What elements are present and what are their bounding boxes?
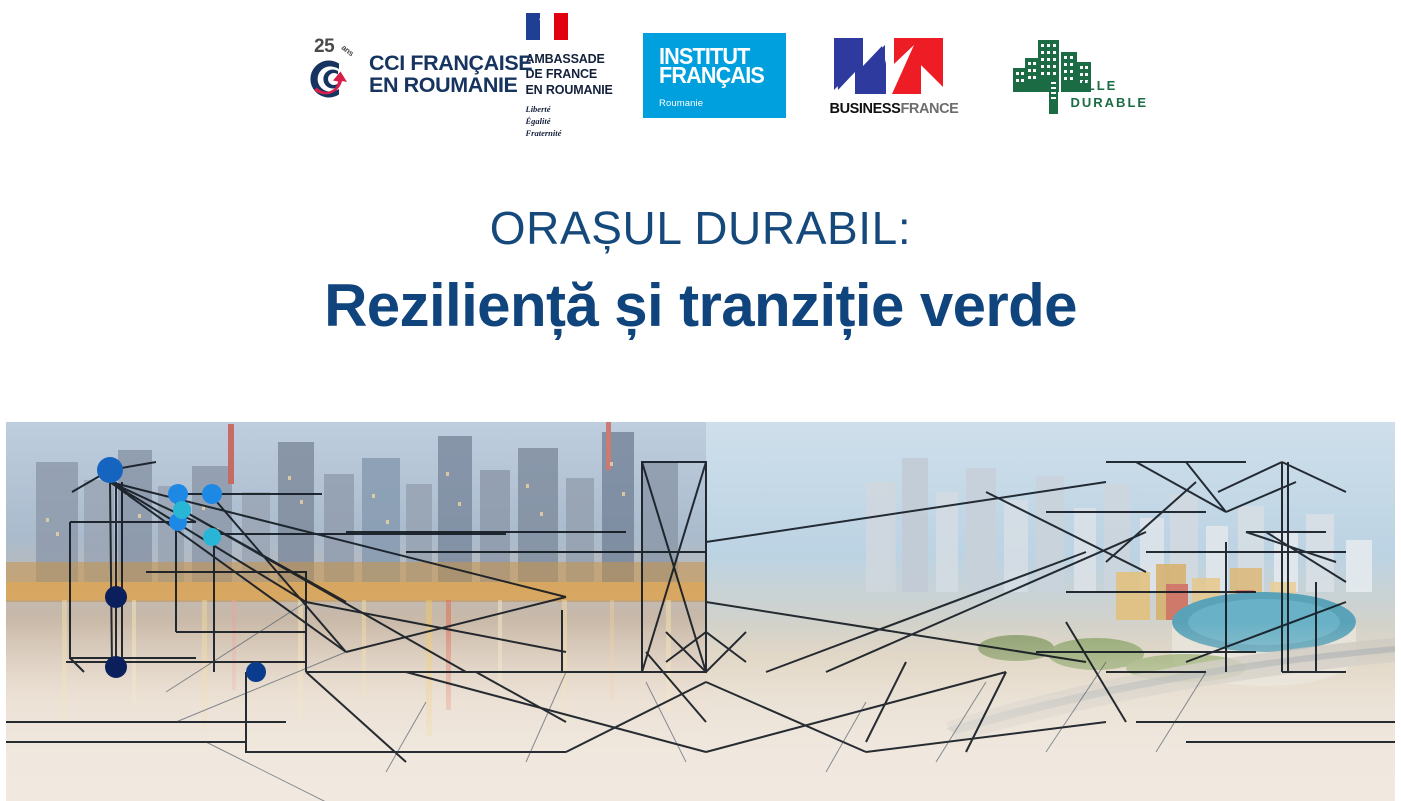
vd-line2: DURABLE bbox=[1071, 95, 1149, 112]
cci-wordmark: CCI FRANÇAISE EN ROUMANIE bbox=[369, 53, 532, 97]
logo-cci-francaise-en-roumanie: 25 ans CCI FRANÇAISE EN ROUMANIE bbox=[261, 20, 521, 130]
logo-business-france: BUSINESSFRANCE bbox=[791, 20, 991, 130]
cci-anniversary-number: 25 bbox=[314, 36, 334, 58]
title-block: ORAȘUL DURABIL: Reziliență și tranziție … bbox=[0, 205, 1401, 336]
page-kicker: ORAȘUL DURABIL: bbox=[0, 205, 1401, 251]
motto-fraternite: Fraternité bbox=[526, 128, 634, 140]
cci-emblem: 25 ans bbox=[303, 36, 367, 114]
business-france-arrows-icon bbox=[830, 34, 948, 98]
cci-c-ring-icon bbox=[306, 56, 352, 102]
cci-line2: EN ROUMANIE bbox=[369, 75, 532, 97]
logo-ambassade-de-france: AMBASSADE DE FRANCE EN ROUMANIE Liberté … bbox=[521, 20, 639, 130]
bf-word-business: BUSINESS bbox=[830, 101, 901, 117]
page-title: Reziliență și tranziție verde bbox=[0, 276, 1401, 336]
hero-illustration bbox=[6, 422, 1395, 801]
republic-motto: Liberté Égalité Fraternité bbox=[526, 104, 634, 139]
logo-ville-durable: VILLE DURABLE bbox=[991, 20, 1141, 130]
ambassade-line2: DE FRANCE bbox=[526, 67, 634, 83]
institut-subtitle: Roumanie bbox=[659, 98, 771, 109]
business-france-wordmark: BUSINESSFRANCE bbox=[830, 101, 952, 117]
vd-line1: VILLE bbox=[1071, 78, 1149, 95]
ambassade-line3: EN ROUMANIE bbox=[526, 83, 634, 99]
institut-line2: FRANÇAIS bbox=[659, 66, 764, 86]
bf-word-france: FRANCE bbox=[900, 101, 958, 117]
ambassade-wordmark: AMBASSADE DE FRANCE EN ROUMANIE bbox=[526, 52, 634, 99]
sponsor-logo-bar: 25 ans CCI FRANÇAISE EN ROUMANIE bbox=[0, 0, 1401, 150]
marianne-flag-icon bbox=[526, 13, 568, 40]
ville-durable-wordmark: VILLE DURABLE bbox=[1071, 78, 1149, 111]
hero-image bbox=[6, 422, 1395, 801]
motto-egalite: Égalité bbox=[526, 116, 634, 128]
motto-liberte: Liberté bbox=[526, 104, 634, 116]
ambassade-line1: AMBASSADE bbox=[526, 52, 634, 68]
logo-institut-francais: INSTITUT FRANÇAIS Roumanie bbox=[639, 20, 791, 130]
cci-line1: CCI FRANÇAISE bbox=[369, 53, 532, 75]
